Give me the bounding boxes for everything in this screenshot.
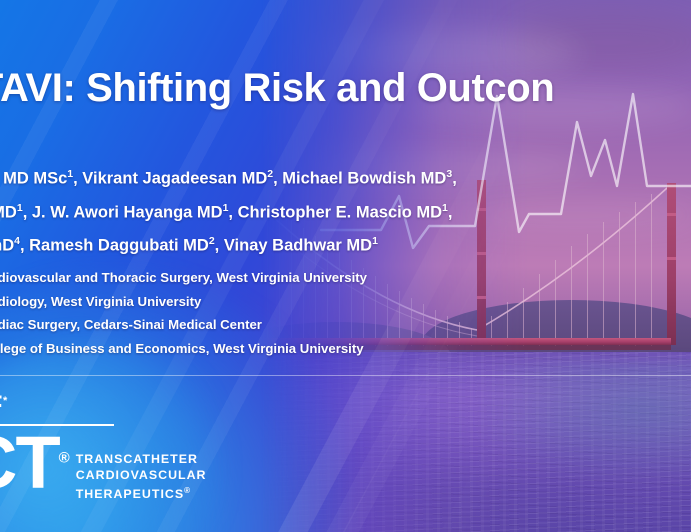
author-line-1-b: , Vikrant Jagadeesan MD <box>73 170 267 188</box>
author-line-1-tail: , <box>452 170 457 188</box>
author-line-3-b: , Ramesh Daggubati MD <box>20 237 209 255</box>
author-line-1-c: , Michael Bowdish MD <box>273 170 446 188</box>
tct-tagline-line-3: THERAPEUTICS® <box>76 483 207 503</box>
tct-wordmark: CT® <box>0 428 68 498</box>
author-line-3-c: , Vinay Badhwar MD <box>215 237 372 255</box>
author-list: r Mehaffey MD MSc1, Vikrant Jagadeesan M… <box>0 160 691 261</box>
tct-tagline-registered-icon: ® <box>184 486 191 495</box>
author-line: S. Price PhD4, Ramesh Daggubati MD2, Vin… <box>0 227 691 261</box>
tct-tagline: TRANSCATHETER CARDIOVASCULAR THERAPEUTIC… <box>76 452 207 503</box>
crf-tct-logo: RF* CT® TRANSCATHETER CARDIOVASCULAR THE… <box>0 386 304 503</box>
tct-tagline-line-2: CARDIOVASCULAR <box>76 468 207 484</box>
author-line: r Mehaffey MD MSc1, Vikrant Jagadeesan M… <box>0 160 691 194</box>
author-affil-sup: 1 <box>372 235 378 247</box>
presentation-title-slide: ...ng TAVI: Shifting Risk and Outcon r M… <box>0 0 691 532</box>
author-line-2-c: , Christopher E. Mascio MD <box>228 203 442 221</box>
affiliation-line: nent of Cardiac Surgery, Cedars-Sinai Me… <box>0 313 691 337</box>
affiliation-line: nent of Cardiovascular and Thoracic Surg… <box>0 266 691 290</box>
crf-trademark-icon: * <box>3 395 8 407</box>
water-teal-highlight <box>481 360 691 480</box>
affiliation-line: nent of Cardiology, West Virginia Univer… <box>0 290 691 314</box>
author-line: Chauhan MD1, J. W. Awori Hayanga MD1, Ch… <box>0 194 691 228</box>
author-line-2-a: Chauhan MD <box>0 203 17 221</box>
tct-text: CT <box>0 421 59 504</box>
affiliation-line: ambers College of Business and Economics… <box>0 337 691 361</box>
crf-wordmark: RF* <box>0 386 304 420</box>
tct-registered-icon: ® <box>59 449 68 466</box>
author-line-2-b: , J. W. Awori Hayanga MD <box>23 203 223 221</box>
author-line-1-a: r Mehaffey MD MSc <box>0 170 67 188</box>
tct-tagline-line-3-text: THERAPEUTICS <box>76 487 184 501</box>
page-title: ...ng TAVI: Shifting Risk and Outcon <box>0 66 691 111</box>
tct-tagline-line-1: TRANSCATHETER <box>76 452 207 468</box>
author-line-3-a: S. Price PhD <box>0 237 14 255</box>
affiliation-list: nent of Cardiovascular and Thoracic Surg… <box>0 266 691 360</box>
horizontal-divider <box>0 375 691 376</box>
author-line-2-tail: , <box>448 203 453 221</box>
